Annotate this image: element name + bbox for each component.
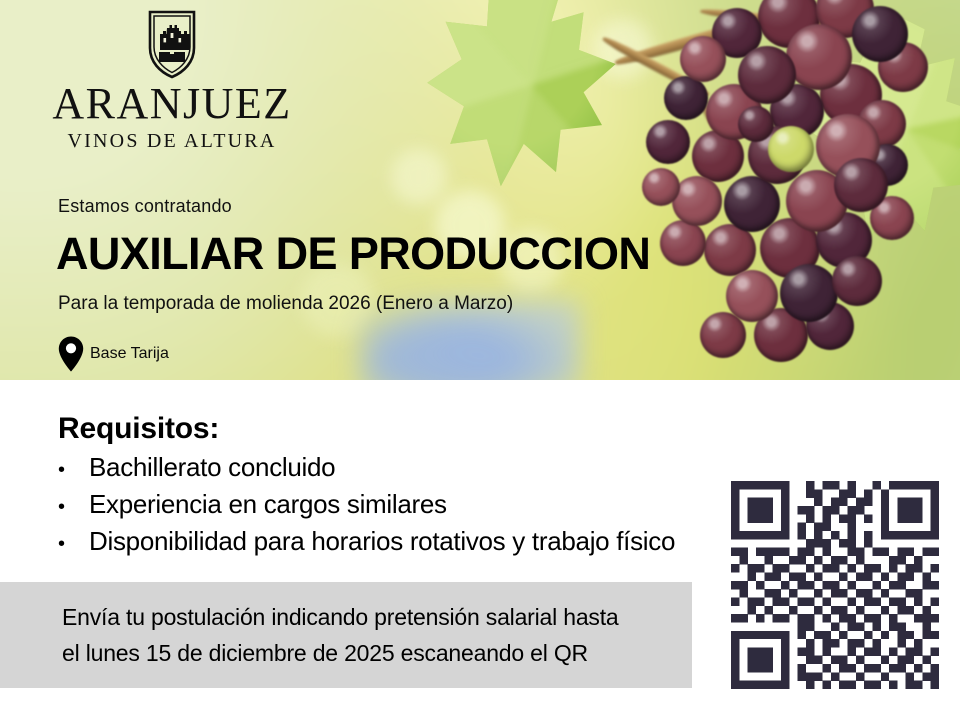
list-item: • Bachillerato concluido [58, 450, 718, 487]
requirement-text: Experiencia en cargos similares [89, 487, 447, 521]
grape-berry [664, 76, 708, 120]
grape-berry [646, 120, 690, 164]
bullet-icon: • [58, 527, 89, 561]
qr-code-image[interactable] [731, 479, 939, 691]
bullet-icon: • [58, 453, 89, 487]
page-title: AUXILIAR DE PRODUCCION [56, 228, 650, 280]
job-posting-poster: ARANJUEZ VINOS DE ALTURA Estamos contrat… [0, 0, 960, 720]
brand-logo: ARANJUEZ VINOS DE ALTURA [52, 8, 292, 151]
grape-berry [660, 220, 706, 266]
grape-berry [642, 168, 680, 206]
location-label: Base Tarija [90, 345, 169, 363]
castle-shield-crest-icon [144, 8, 200, 80]
requirements-heading: Requisitos: [58, 412, 718, 446]
list-item: • Disponibilidad para horarios rotativos… [58, 524, 718, 561]
grape-berry [738, 46, 796, 104]
brand-tagline: VINOS DE ALTURA [52, 131, 292, 151]
requirement-text: Disponibilidad para horarios rotativos y… [89, 524, 675, 558]
grape-berry [852, 6, 908, 62]
grape-berry [738, 106, 774, 142]
bullet-icon: • [58, 490, 89, 524]
grape-berry [834, 158, 888, 212]
grape-berry [726, 270, 778, 322]
qr-code[interactable] [731, 479, 939, 691]
application-instructions-box: Envía tu postulación indicando pretensió… [0, 582, 692, 688]
list-item: • Experiencia en cargos similares [58, 487, 718, 524]
grape-berry [680, 36, 726, 82]
cta-line-1: Envía tu postulación indicando pretensió… [62, 604, 619, 631]
brand-name: ARANJUEZ [52, 82, 292, 126]
cta-line-2: el lunes 15 de diciembre de 2025 escanea… [62, 640, 588, 667]
hiring-kicker: Estamos contratando [58, 196, 232, 217]
location-row: Base Tarija [58, 336, 169, 372]
grape-berry [724, 176, 780, 232]
job-subtitle: Para la temporada de molienda 2026 (Ener… [58, 293, 513, 315]
grape-berry [780, 264, 838, 322]
map-pin-icon [58, 336, 84, 372]
requirements-section: Requisitos: • Bachillerato concluido • E… [58, 412, 718, 561]
grape-berry [786, 24, 852, 90]
green-grape-berry [768, 126, 814, 172]
requirements-list: • Bachillerato concluido • Experiencia e… [58, 450, 718, 561]
requirement-text: Bachillerato concluido [89, 450, 335, 484]
grape-cluster [620, 0, 960, 380]
grape-berry [832, 256, 882, 306]
